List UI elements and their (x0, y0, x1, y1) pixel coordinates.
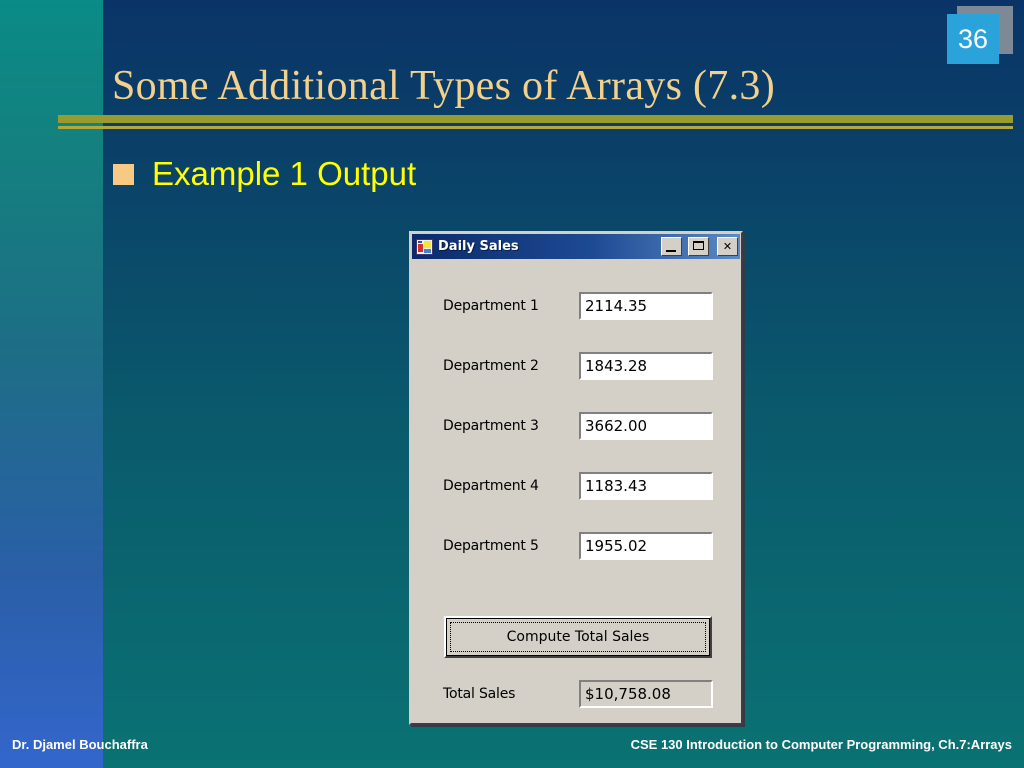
department-label-3: Department 3 (443, 418, 539, 434)
department-input-2[interactable]: 1843.28 (579, 352, 713, 380)
department-label-4: Department 4 (443, 478, 539, 494)
footer-author: Dr. Djamel Bouchaffra (12, 737, 148, 752)
slide-number-badge: 36 (947, 6, 1013, 64)
close-icon: ✕ (718, 238, 737, 255)
window-client-area: Department 1 2114.35 Department 2 1843.2… (411, 259, 741, 723)
compute-total-sales-label: Compute Total Sales (450, 622, 706, 652)
vb-form-icon (416, 239, 433, 255)
window-title: Daily Sales (438, 240, 655, 253)
department-row-3: Department 3 3662.00 (411, 409, 741, 443)
footer-course: CSE 130 Introduction to Computer Program… (631, 737, 1012, 752)
total-sales-label: Total Sales (443, 686, 515, 702)
department-row-5: Department 5 1955.02 (411, 529, 741, 563)
square-bullet-icon (113, 164, 134, 185)
department-input-4[interactable]: 1183.43 (579, 472, 713, 500)
title-divider-thick (58, 115, 1013, 123)
department-input-3[interactable]: 3662.00 (579, 412, 713, 440)
department-label-1: Department 1 (443, 298, 539, 314)
compute-total-sales-button[interactable]: Compute Total Sales (444, 616, 712, 658)
daily-sales-window: Daily Sales ✕ Department 1 2114.35 Depar… (409, 231, 743, 725)
minimize-icon (666, 250, 676, 252)
bullet-item: Example 1 Output (113, 155, 416, 193)
department-row-2: Department 2 1843.28 (411, 349, 741, 383)
total-sales-value: $10,758.08 (579, 680, 713, 708)
total-sales-row: Total Sales $10,758.08 (411, 677, 741, 711)
maximize-button[interactable] (688, 237, 709, 256)
page-title: Some Additional Types of Arrays (7.3) (112, 62, 775, 110)
title-divider-thin (58, 126, 1013, 129)
department-row-4: Department 4 1183.43 (411, 469, 741, 503)
maximize-icon (693, 241, 704, 250)
window-titlebar[interactable]: Daily Sales ✕ (412, 234, 740, 259)
department-label-2: Department 2 (443, 358, 539, 374)
bullet-item-label: Example 1 Output (152, 155, 416, 193)
department-label-5: Department 5 (443, 538, 539, 554)
close-button[interactable]: ✕ (717, 237, 738, 256)
slide-canvas: 36 Some Additional Types of Arrays (7.3)… (0, 0, 1024, 768)
department-input-1[interactable]: 2114.35 (579, 292, 713, 320)
department-input-5[interactable]: 1955.02 (579, 532, 713, 560)
slide-number-value: 36 (947, 14, 999, 64)
department-row-1: Department 1 2114.35 (411, 289, 741, 323)
minimize-button[interactable] (661, 237, 682, 256)
